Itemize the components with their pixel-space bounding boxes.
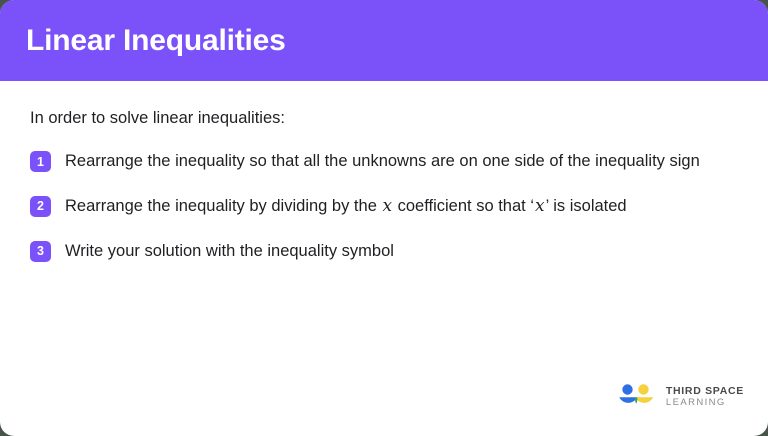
- logo-wordmark: THIRD SPACE LEARNING: [666, 386, 744, 408]
- step-text-part: coefficient so that ‘: [393, 197, 534, 215]
- step-text: Rearrange the inequality so that all the…: [65, 149, 704, 174]
- step-number-badge: 3: [30, 241, 51, 262]
- slide-header: Linear Inequalities: [0, 0, 768, 81]
- brand-logo: THIRD SPACE LEARNING: [617, 384, 744, 410]
- math-variable: [702, 151, 704, 171]
- step-text: Rearrange the inequality by dividing by …: [65, 194, 627, 219]
- step-text-part: ’ is isolated: [546, 197, 627, 215]
- logo-line-1: THIRD SPACE: [666, 386, 744, 397]
- list-item: 3 Write your solution with the inequalit…: [30, 239, 738, 264]
- math-variable: [396, 241, 398, 261]
- list-item: 1 Rearrange the inequality so that all t…: [30, 149, 738, 174]
- math-variable: x: [534, 196, 546, 216]
- intro-text: In order to solve linear inequalities:: [30, 107, 738, 129]
- logo-line-2: LEARNING: [666, 398, 744, 408]
- step-number-badge: 2: [30, 196, 51, 217]
- slide-body: In order to solve linear inequalities: 1…: [0, 81, 768, 436]
- step-number-badge: 1: [30, 151, 51, 172]
- third-space-learning-logo-icon: [617, 384, 657, 410]
- step-text-part: Rearrange the inequality so that all the…: [65, 152, 700, 170]
- step-text-part: Rearrange the inequality by dividing by …: [65, 197, 381, 215]
- list-item: 2 Rearrange the inequality by dividing b…: [30, 194, 738, 219]
- lesson-slide-card: Linear Inequalities In order to solve li…: [0, 0, 768, 436]
- page-title: Linear Inequalities: [26, 26, 286, 56]
- step-text-part: Write your solution with the inequality …: [65, 242, 394, 260]
- steps-list: 1 Rearrange the inequality so that all t…: [30, 149, 738, 264]
- step-text: Write your solution with the inequality …: [65, 239, 398, 264]
- math-variable: x: [381, 196, 393, 216]
